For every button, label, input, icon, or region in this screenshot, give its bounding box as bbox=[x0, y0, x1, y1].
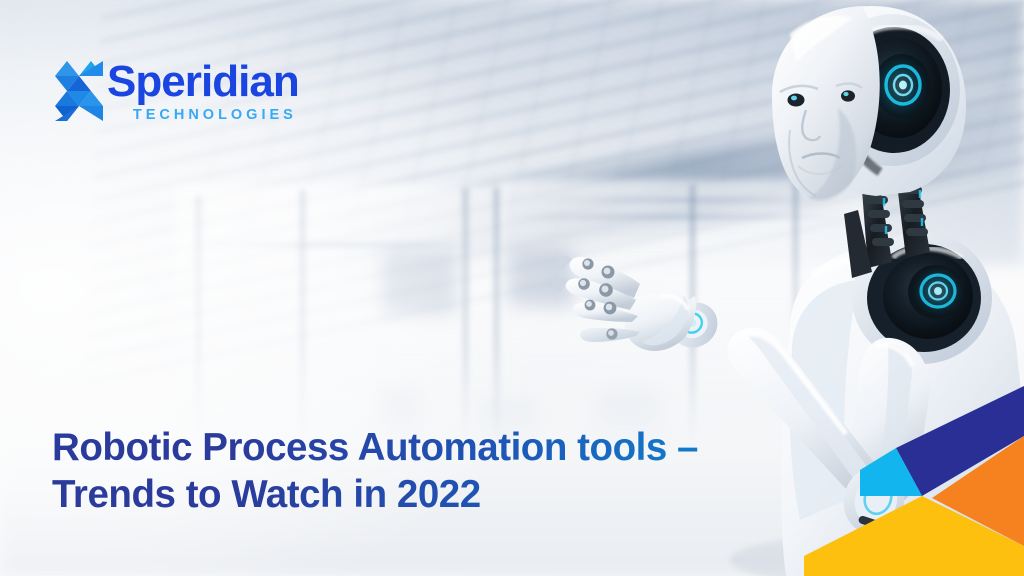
speridian-s-mark-icon bbox=[53, 60, 103, 126]
logo-name: Speridian bbox=[107, 58, 299, 106]
speridian-logo[interactable]: Speridian TECHNOLOGIES bbox=[53, 58, 299, 126]
logo-wordmark: Speridian TECHNOLOGIES bbox=[107, 58, 299, 124]
logo-tagline: TECHNOLOGIES bbox=[107, 107, 299, 124]
banner-root: Speridian TECHNOLOGIES Robotic Process A… bbox=[0, 0, 1024, 576]
robot-eye-right bbox=[841, 90, 855, 101]
robot-eye-left bbox=[788, 94, 805, 107]
robot-head bbox=[772, 6, 966, 201]
robot-hand bbox=[552, 256, 696, 351]
corner-decoration bbox=[804, 386, 1024, 576]
page-title: Robotic Process Automation tools – Trend… bbox=[52, 424, 812, 518]
